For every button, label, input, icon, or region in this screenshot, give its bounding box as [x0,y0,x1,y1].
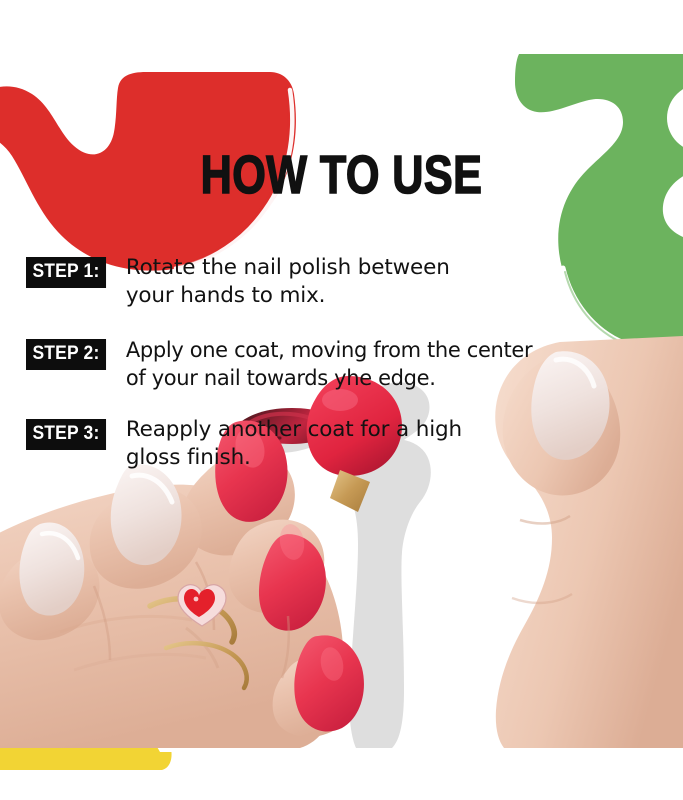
how-to-use-poster: HOW TO USE STEP 1: Rotate the nail polis… [0,0,683,800]
content-layer: HOW TO USE STEP 1: Rotate the nail polis… [0,0,683,800]
step-row-1: STEP 1: Rotate the nail polish between y… [26,254,666,310]
step-text-2: Apply one coat, moving from the center o… [126,336,666,392]
step-badge-3: STEP 3: [26,419,106,450]
step-badge-2: STEP 2: [26,339,106,370]
step-text-3: Reapply another coat for a high gloss fi… [126,416,666,472]
step-text-1: Rotate the nail polish between your hand… [126,254,666,310]
page-title: HOW TO USE [68,146,614,204]
step-row-3: STEP 3: Reapply another coat for a high … [26,416,666,472]
step-badge-1: STEP 1: [26,257,106,288]
step-row-2: STEP 2: Apply one coat, moving from the … [26,336,666,392]
